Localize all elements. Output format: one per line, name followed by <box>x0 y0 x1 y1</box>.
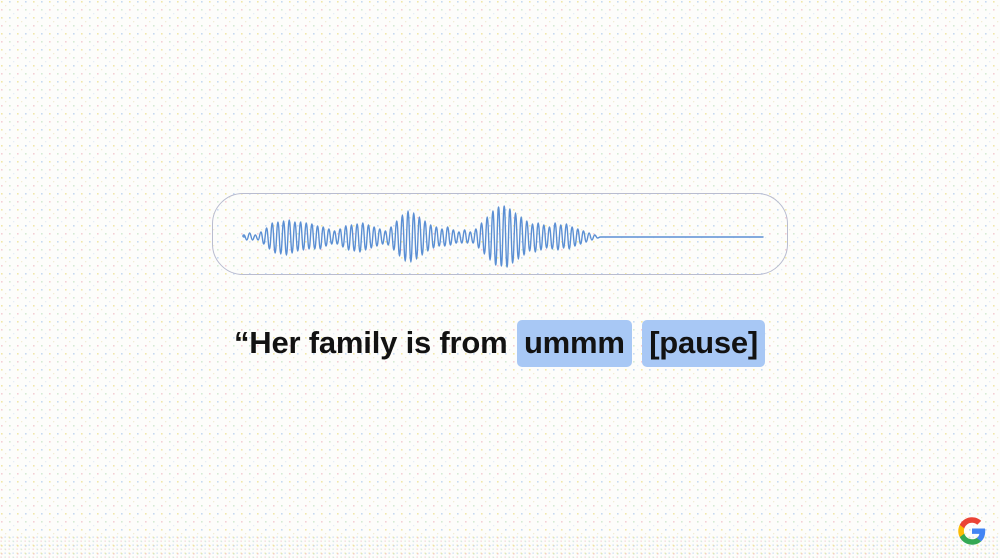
transcript-caption: “Her family is from ummm [pause] <box>0 318 1000 368</box>
audio-waveform-card[interactable] <box>212 193 788 275</box>
caption-highlight-pause[interactable]: [pause] <box>642 320 765 367</box>
google-logo-red-segment <box>960 517 981 528</box>
google-logo-green-segment <box>960 534 981 545</box>
audio-waveform <box>213 194 789 276</box>
caption-prefix: “Her family is from <box>234 325 516 360</box>
caption-spacer <box>633 325 641 360</box>
caption-highlight-filler[interactable]: ummm <box>517 320 632 367</box>
slide-stage: “Her family is from ummm [pause] <box>0 0 1000 558</box>
google-logo <box>957 516 987 546</box>
